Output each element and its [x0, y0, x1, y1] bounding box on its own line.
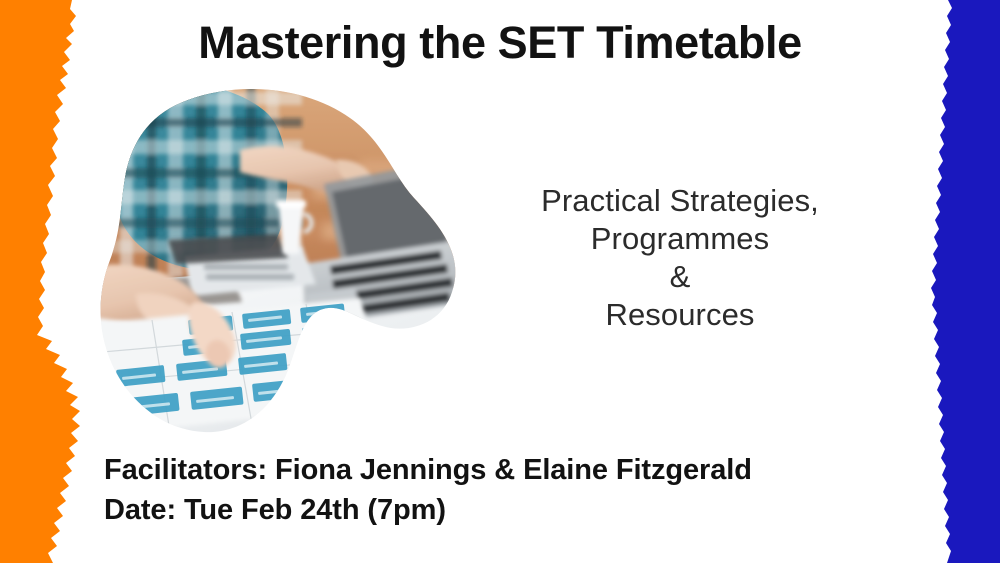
orange-band-shape	[0, 0, 80, 563]
subtitle-line-3: &	[520, 258, 840, 296]
date-line: Date: Tue Feb 24th (7pm)	[104, 490, 752, 530]
slide-subtitle: Practical Strategies, Programmes & Resou…	[520, 182, 840, 334]
photo-content	[92, 88, 460, 436]
blue-band-shape	[931, 0, 1000, 563]
blob-masked-photo	[92, 88, 460, 436]
subtitle-line-4: Resources	[520, 296, 840, 334]
event-details: Facilitators: Fiona Jennings & Elaine Fi…	[104, 450, 752, 530]
slide-title: Mastering the SET Timetable	[0, 18, 1000, 68]
facilitators-line: Facilitators: Fiona Jennings & Elaine Fi…	[104, 450, 752, 490]
subtitle-line-2: Programmes	[520, 220, 840, 258]
blue-torn-band	[930, 0, 1000, 563]
subtitle-line-1: Practical Strategies,	[520, 182, 840, 220]
slide-canvas: Mastering the SET Timetable Practical St…	[0, 0, 1000, 563]
